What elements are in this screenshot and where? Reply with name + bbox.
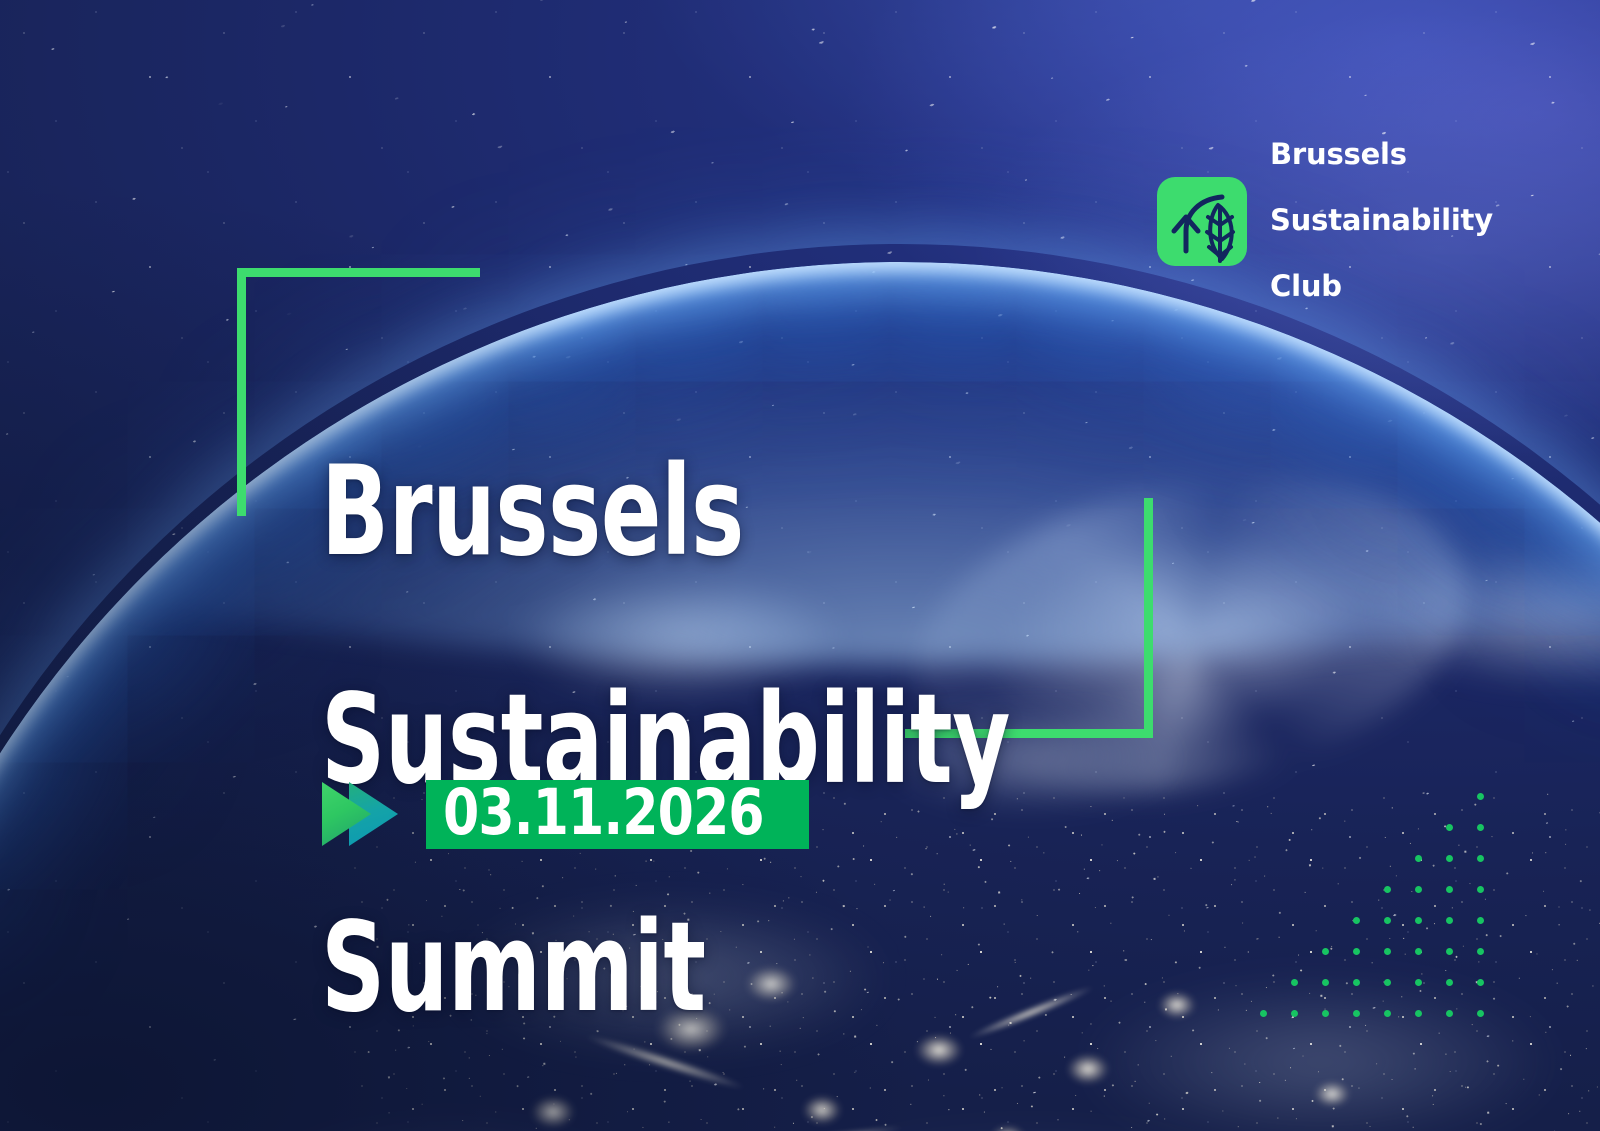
grid-dot <box>1353 948 1360 955</box>
brand-logo-text: Brussels Sustainability Club <box>1270 105 1493 336</box>
grid-dot <box>1477 917 1484 924</box>
double-play-arrow-icon <box>318 778 402 850</box>
grid-dot <box>1415 1010 1422 1017</box>
logo-line-1: Brussels <box>1270 138 1493 171</box>
grid-dot <box>1415 948 1422 955</box>
dot-row <box>1236 979 1484 1010</box>
logo-line-2: Sustainability <box>1270 204 1493 237</box>
grid-dot <box>1446 855 1453 862</box>
grid-dot <box>1322 979 1329 986</box>
grid-dot <box>1384 886 1391 893</box>
dot-row <box>1236 855 1484 886</box>
dot-grid-triangle <box>1236 793 1484 1041</box>
grid-dot <box>1384 917 1391 924</box>
grid-dot <box>1415 917 1422 924</box>
grid-dot <box>1415 855 1422 862</box>
grid-dot <box>1446 824 1453 831</box>
grid-dot <box>1291 1010 1298 1017</box>
dot-row <box>1236 824 1484 855</box>
grid-dot <box>1446 917 1453 924</box>
grid-dot <box>1446 1010 1453 1017</box>
dot-row <box>1236 948 1484 979</box>
title-line-1: Brussels <box>321 455 1010 569</box>
dot-row <box>1236 1010 1484 1041</box>
grid-dot <box>1477 979 1484 986</box>
grid-dot <box>1446 979 1453 986</box>
grid-dot <box>1353 979 1360 986</box>
grid-dot <box>1477 1010 1484 1017</box>
dot-row <box>1236 886 1484 917</box>
grid-dot <box>1446 886 1453 893</box>
page-title: Brussels Sustainability Summit <box>321 341 1010 1131</box>
title-line-3: Summit <box>321 911 1010 1025</box>
grid-dot <box>1384 979 1391 986</box>
event-date-badge: 03.11.2026 <box>426 780 809 849</box>
grid-dot <box>1291 979 1298 986</box>
brand-logo[interactable]: Brussels Sustainability Club <box>1150 105 1493 336</box>
grid-dot <box>1384 948 1391 955</box>
grid-dot <box>1384 1010 1391 1017</box>
event-poster: Brussels Sustainability Summit <box>0 0 1600 1131</box>
grid-dot <box>1322 1010 1329 1017</box>
grid-dot <box>1415 979 1422 986</box>
grid-dot <box>1260 1010 1267 1017</box>
dot-row <box>1236 793 1484 824</box>
grid-dot <box>1477 855 1484 862</box>
event-date-value: 03.11.2026 <box>443 781 764 844</box>
grid-dot <box>1477 948 1484 955</box>
grid-dot <box>1477 886 1484 893</box>
dot-row <box>1236 917 1484 948</box>
grid-dot <box>1353 1010 1360 1017</box>
grid-dot <box>1477 824 1484 831</box>
leaf-recycle-arrow-icon <box>1150 169 1254 273</box>
grid-dot <box>1446 948 1453 955</box>
grid-dot <box>1415 886 1422 893</box>
logo-line-3: Club <box>1270 270 1493 303</box>
grid-dot <box>1353 917 1360 924</box>
grid-dot <box>1322 948 1329 955</box>
event-date-row: 03.11.2026 <box>318 778 809 850</box>
grid-dot <box>1477 793 1484 800</box>
